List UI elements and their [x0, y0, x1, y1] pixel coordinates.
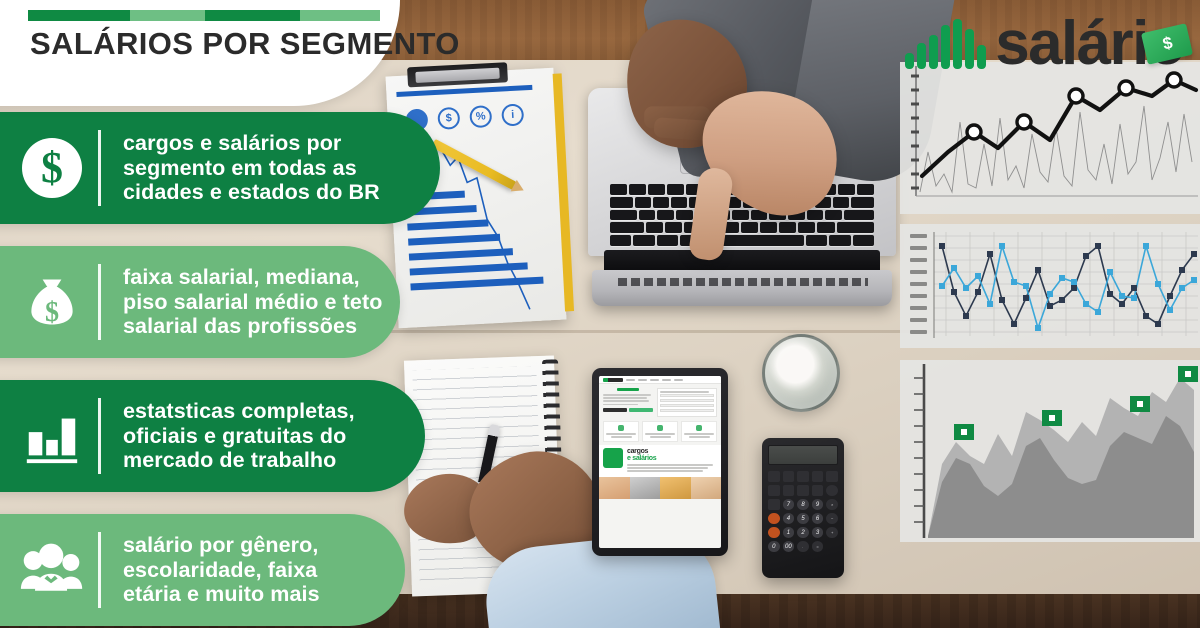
salario-logo[interactable]: salário$ [905, 16, 1184, 72]
calculator-key: + [826, 527, 838, 538]
calculator-key [826, 485, 838, 496]
tablet-device: cargos e salários [592, 368, 728, 556]
laptop-base [592, 270, 892, 306]
calculator-display [768, 445, 838, 465]
tablet-photo-strip [599, 477, 721, 499]
tablet-nav-link [650, 379, 659, 381]
calculator-key [768, 499, 780, 510]
clipboard-info-icon: i [501, 103, 524, 126]
stacked-area-chart-svg [900, 360, 1200, 542]
pill-divider [98, 532, 101, 608]
calculator-key: 0 [768, 541, 780, 552]
tablet-screen: cargos e salários [599, 376, 721, 548]
tablet-card [642, 421, 678, 442]
calculator-key [783, 471, 795, 482]
calculator-key [797, 471, 809, 482]
keyboard-row [610, 210, 874, 221]
chart-light-markers [939, 243, 1197, 331]
pill-divider [98, 130, 101, 206]
tablet-form-field [660, 404, 714, 407]
svg-text:$: $ [41, 143, 63, 192]
chart-volatility-series [920, 106, 1192, 192]
tablet-feature-icon [603, 448, 623, 468]
calculator-key [783, 485, 795, 496]
chart-y-tick-labels [910, 234, 927, 334]
pill-divider [98, 264, 101, 340]
calculator-key: = [812, 541, 824, 552]
bar-chart-icon [6, 405, 98, 467]
tablet-nav-link [674, 379, 683, 381]
tablet-hero-heading [617, 388, 639, 391]
calculator-key [768, 471, 780, 482]
keyboard-row [610, 235, 874, 246]
tablet-card [681, 421, 717, 442]
feature-pill-salario-genero[interactable]: salário por gênero, escolaridade, faixa … [0, 514, 405, 626]
tablet-button-secondary [629, 408, 653, 412]
calculator-key: 9 [812, 499, 824, 510]
clipboard-dollar-icon: $ [437, 107, 460, 130]
calculator-key [812, 471, 824, 482]
poster-canvas: $ % i [0, 0, 1200, 628]
tablet-hero-left [603, 388, 653, 417]
line-markers-chart [900, 62, 1200, 214]
logo-wordmark: salário$ [995, 16, 1184, 72]
calculator-key [797, 485, 809, 496]
calculator-key [768, 485, 780, 496]
feature-text: estatsticas completas, oficiais e gratui… [123, 399, 355, 474]
logo-bars-icon [905, 19, 986, 69]
chart-y-ticks [914, 378, 924, 522]
keyboard-row [610, 222, 874, 233]
clipboard-percent-icon: % [469, 105, 492, 128]
money-bag-icon: $ [6, 272, 98, 332]
tablet-form-field [660, 399, 714, 402]
calculator-key: . [797, 541, 809, 552]
pill-divider [98, 398, 101, 474]
tablet-hero-buttons [603, 408, 653, 412]
tablet-card [603, 421, 639, 442]
title-accent-bar [28, 10, 380, 21]
calculator-key: − [826, 513, 838, 524]
calculator-key: 4 [783, 513, 795, 524]
feature-text: faixa salarial, mediana, piso salarial m… [123, 265, 383, 340]
calculator-key: 00 [783, 541, 795, 552]
glass-of-water [762, 334, 840, 412]
feature-pill-cargos-salarios[interactable]: $ cargos e salários por segmento em toda… [0, 112, 440, 224]
tablet-feature-text: cargos e salários [627, 448, 717, 474]
calculator-keypad: 789× 456− 123+ 000.= [768, 471, 838, 552]
dual-series-grid-chart [900, 224, 1200, 348]
clipboard-clip [407, 62, 508, 87]
calculator-clear-entry-key [768, 527, 780, 538]
people-group-icon [6, 539, 98, 601]
calculator: 789× 456− 123+ 000.= [762, 438, 844, 578]
feature-pill-estatisticas[interactable]: estatsticas completas, oficiais e gratui… [0, 380, 425, 492]
page-title: SALÁRIOS POR SEGMENTO [30, 26, 460, 62]
tablet-form-field [660, 394, 714, 397]
tablet-search-form [657, 388, 717, 417]
stacked-area-chart [900, 360, 1200, 542]
tablet-hero-section [599, 384, 721, 421]
tablet-nav-link [626, 379, 635, 381]
tablet-site-nav [599, 376, 721, 384]
tablet-nav-link [662, 379, 671, 381]
feature-pill-faixa-salarial[interactable]: $ faixa salarial, mediana, piso salarial… [0, 246, 400, 358]
calculator-key: 6 [812, 513, 824, 524]
calculator-key: × [826, 499, 838, 510]
laptop-base-keys [618, 278, 868, 286]
calculator-key: 5 [797, 513, 809, 524]
line-markers-chart-svg [900, 62, 1200, 214]
tablet-site-logo [603, 378, 623, 382]
tablet-form-field [660, 409, 714, 412]
tablet-headline-accent: e salários [627, 455, 656, 462]
tablet-feature-block: cargos e salários [599, 445, 721, 477]
feature-text: cargos e salários por segmento em todas … [123, 131, 380, 206]
title-card: SALÁRIOS POR SEGMENTO [0, 0, 400, 106]
calculator-key: 7 [783, 499, 795, 510]
tablet-card-row [599, 421, 721, 445]
calculator-clear-key [768, 513, 780, 524]
chart-trend-series [922, 80, 1196, 176]
svg-text:$: $ [45, 297, 59, 328]
tablet-headline-primary: cargos [627, 448, 648, 455]
dollar-circle-icon: $ [6, 136, 98, 200]
tablet-nav-link [638, 379, 647, 381]
calculator-key: 3 [812, 527, 824, 538]
clipboard-trend-line [423, 131, 536, 320]
logo-word-main: salári [995, 9, 1147, 78]
chart-y-ticks [911, 76, 919, 188]
calculator-key: 1 [783, 527, 795, 538]
calculator-key: 2 [797, 527, 809, 538]
calculator-key: 8 [797, 499, 809, 510]
calculator-key [826, 471, 838, 482]
tablet-button-primary [603, 408, 627, 412]
feature-text: salário por gênero, escolaridade, faixa … [123, 533, 320, 608]
calculator-key [812, 485, 824, 496]
dual-series-grid-chart-svg [900, 224, 1200, 348]
